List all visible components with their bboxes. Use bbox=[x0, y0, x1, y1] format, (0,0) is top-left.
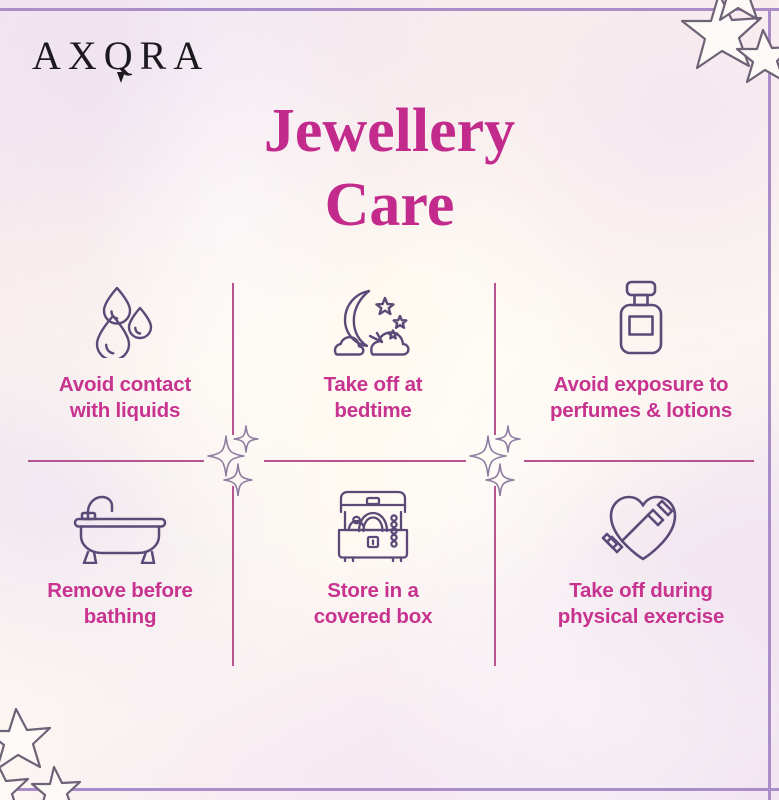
care-tip-icon-slot bbox=[510, 278, 772, 358]
perfume-bottle-icon bbox=[608, 278, 674, 358]
brand-logo: AXQRA bbox=[32, 36, 209, 76]
care-tip-label: Avoid exposure to perfumes & lotions bbox=[510, 372, 772, 424]
diamond-gem-icon bbox=[117, 72, 125, 83]
care-tip-remove-bathing: Remove before bathing bbox=[0, 484, 240, 630]
heart-dumbbell-icon bbox=[595, 486, 687, 564]
care-tip-icon-slot bbox=[0, 484, 240, 564]
care-tip-icon-slot bbox=[5, 278, 245, 358]
care-tip-icon-slot bbox=[253, 278, 493, 358]
care-tip-label: Take off at bedtime bbox=[253, 372, 493, 424]
care-tip-label-line2: bathing bbox=[84, 605, 157, 628]
care-tip-store-covered-box: Store in a covered box bbox=[253, 484, 493, 630]
care-tip-icon-slot bbox=[253, 484, 493, 564]
care-tip-label-line2: bedtime bbox=[334, 399, 411, 422]
care-tip-label-line2: perfumes & lotions bbox=[550, 399, 732, 422]
moon-stars-cloud-icon bbox=[329, 286, 417, 358]
care-tip-label: Avoid contact with liquids bbox=[5, 372, 245, 424]
care-tip-bedtime: Take off at bedtime bbox=[253, 278, 493, 424]
care-tip-physical-exercise: Take off during physical exercise bbox=[510, 484, 772, 630]
care-tip-label: Store in a covered box bbox=[253, 578, 493, 630]
page-title: Jewellery Care bbox=[0, 92, 779, 244]
care-tip-label: Remove before bathing bbox=[0, 578, 240, 630]
jewellery-care-infographic: AXQRA Jewellery Care bbox=[0, 0, 779, 800]
care-tip-label-line2: covered box bbox=[314, 605, 433, 628]
care-tip-label-line1: Avoid contact bbox=[59, 373, 191, 396]
care-tip-label-line1: Store in a bbox=[327, 579, 418, 602]
logo-text-part1: AX bbox=[32, 33, 104, 78]
care-tips-grid: Avoid contact with liquids bbox=[0, 272, 779, 692]
logo-letter-q: Q bbox=[104, 36, 140, 76]
logo-text-part2: RA bbox=[140, 33, 210, 78]
frame-line-top bbox=[0, 8, 779, 11]
care-tip-avoid-perfumes: Avoid exposure to perfumes & lotions bbox=[510, 278, 772, 424]
care-tip-label-line1: Remove before bbox=[47, 579, 193, 602]
care-tip-label-line1: Avoid exposure to bbox=[554, 373, 729, 396]
page-title-line1: Jewellery bbox=[0, 92, 779, 170]
care-tip-icon-slot bbox=[510, 484, 772, 564]
care-tip-label-line2: physical exercise bbox=[558, 605, 724, 628]
care-tip-label-line1: Take off during bbox=[569, 579, 713, 602]
bathtub-icon bbox=[68, 488, 172, 564]
jewellery-box-icon bbox=[331, 486, 415, 564]
care-tip-label-line1: Take off at bbox=[324, 373, 423, 396]
care-tip-label-line2: with liquids bbox=[70, 399, 180, 422]
care-tip-avoid-liquids: Avoid contact with liquids bbox=[5, 278, 245, 424]
page-title-line2: Care bbox=[0, 166, 779, 244]
care-tip-label: Take off during physical exercise bbox=[510, 578, 772, 630]
water-drops-icon bbox=[87, 282, 163, 358]
frame-line-bottom bbox=[0, 788, 779, 791]
